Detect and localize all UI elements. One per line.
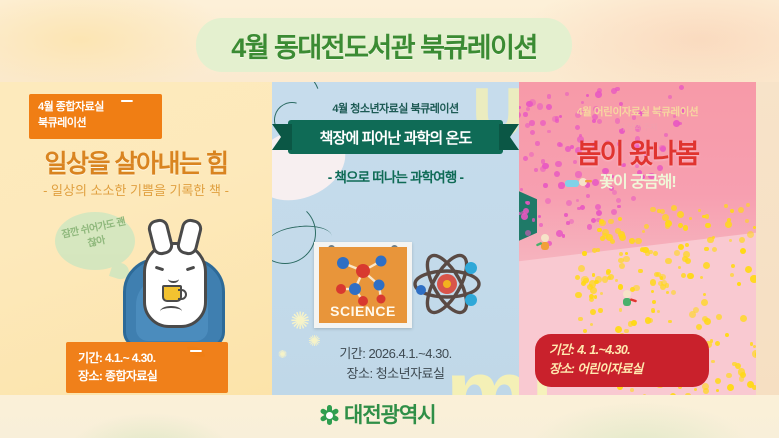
panel-badge-top: 4월 청소년자료실 북큐레이션 [272, 100, 519, 116]
rabbit-eye-left [155, 266, 164, 272]
teacup-icon [162, 285, 182, 302]
panel-subtitle: - 일상의 소소한 기쁨을 기록한 책 - [0, 180, 272, 199]
info-place: 장소: 어린이자료실 [549, 360, 699, 379]
panel-youth-reading-room[interactable]: ∪ m ✺ ✺ ✺ 4월 청소년자료실 북큐레이션 책장에 피어난 과학의 온도… [272, 82, 519, 402]
page-title-pill: 4월 동대전도서관 북큐레이션 [196, 18, 572, 72]
panel-title: 일상을 살아내는 힘 [0, 144, 272, 180]
city-logo-text: 대전광역시 [344, 405, 436, 426]
badge-line-1: 4월 종합자료실 [38, 100, 153, 116]
kid-figure-3 [563, 174, 593, 192]
badge-line-2: 북큐레이션 [38, 116, 153, 132]
panel-info: 기간: 2026.4.1.~4.30. 장소: 청소년자료실 [272, 344, 519, 383]
kid-figure-2 [615, 288, 639, 310]
science-poster-label: SCIENCE [319, 303, 407, 319]
panel-badge-top: 4월 어린이자료실 북큐레이션 [519, 104, 756, 119]
info-place: 장소: 청소년자료실 [272, 364, 519, 384]
rabbit-ear-right [175, 217, 204, 257]
panel-title: 봄이 왔나봄 [519, 132, 756, 171]
panel-info-badge: 기간: 4. 1.~4.30. 장소: 어린이자료실 [535, 334, 709, 387]
science-illustration: SCIENCE [314, 234, 479, 334]
page-title: 4월 동대전도서관 북큐레이션 [231, 26, 537, 65]
rabbit-eye-right [186, 266, 195, 272]
atom-icon [411, 250, 483, 318]
panels-row: 4월 종합자료실 북큐레이션 일상을 살아내는 힘 - 일상의 소소한 기쁨을 … [0, 82, 779, 402]
panel-childrens-reading-room[interactable]: ⊔ 4월 어린이자료실 북큐레이션 이 달의 주제 봄이 왔나봄 꽃이 궁금해!… [519, 82, 756, 402]
ribbon-banner: 책장에 피어난 과학의 온도 [288, 120, 503, 154]
info-place: 장소: 종합자료실 [78, 367, 218, 385]
panel-badge-top: 4월 종합자료실 북큐레이션 [29, 94, 162, 139]
info-period: 기간: 2026.4.1.~4.30. [272, 344, 519, 364]
poster-canvas: 4월 종합자료실 북큐레이션 일상을 살아내는 힘 - 일상의 소소한 기쁨을 … [0, 0, 779, 438]
panel-title: 책장에 피어난 과학의 온도 [320, 127, 472, 148]
rabbit-paw [160, 306, 182, 317]
science-poster: SCIENCE [319, 247, 407, 323]
panel-general-reading-room[interactable]: 4월 종합자료실 북큐레이션 일상을 살아내는 힘 - 일상의 소소한 기쁨을 … [0, 82, 272, 402]
panel-right-filler [756, 82, 779, 402]
city-logo[interactable]: 대전광역시 [318, 404, 436, 426]
science-poster-frame: SCIENCE [314, 242, 412, 328]
panel-subtitle: 꽃이 궁금해! [519, 168, 756, 192]
rabbit-icon [143, 242, 207, 328]
kid-figure-1 [533, 232, 557, 254]
pinwheel-flower-icon [318, 404, 340, 426]
panel-subtitle: - 책으로 떠나는 과학여행 - [272, 166, 519, 186]
rabbit-ear-left [146, 217, 175, 257]
rabbit-mouth [168, 275, 179, 283]
panel-info-badge: 기간: 4.1.~ 4.30. 장소: 종합자료실 [66, 342, 228, 393]
deco-star-1: ✺ [290, 310, 310, 334]
info-period: 기간: 4. 1.~4.30. [549, 341, 699, 360]
